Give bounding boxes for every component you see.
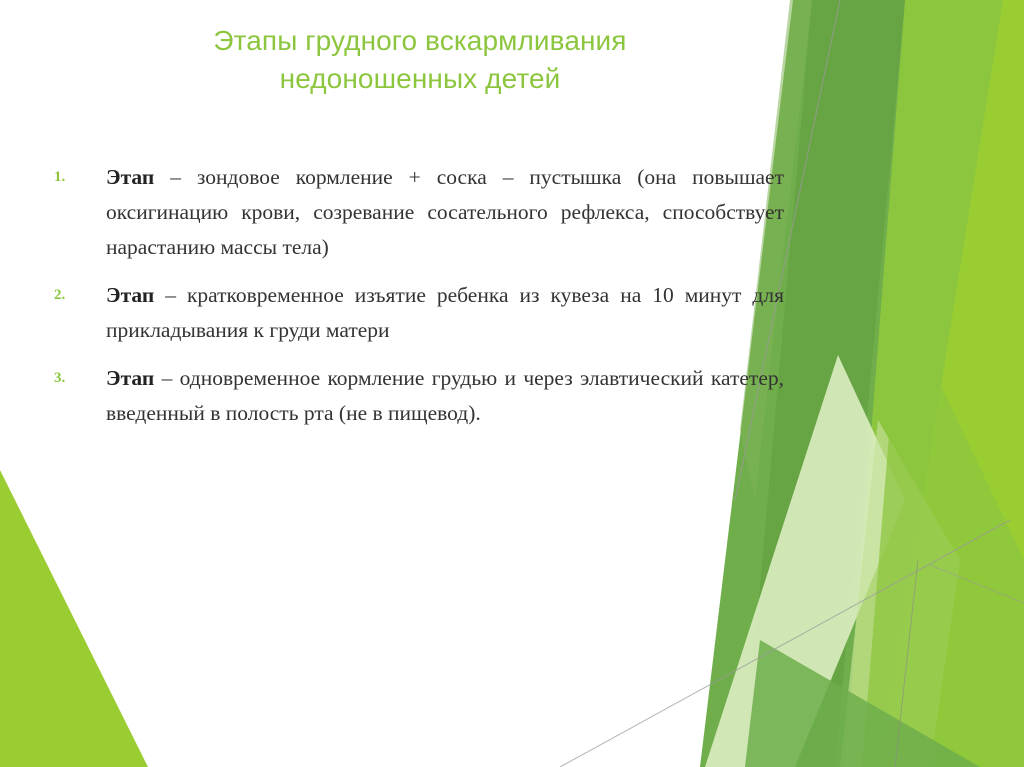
hairline-vertical-right: [895, 560, 918, 767]
list-item-tail-3: – одновременное кормление грудью и через…: [106, 366, 784, 425]
list-marker-3: 3.: [48, 361, 106, 396]
list-item-text-3: Этап – одновременное кормление грудью и …: [106, 361, 784, 431]
list-item-tail-1: – зондовое кормление + соска – пустышка …: [106, 165, 784, 259]
green-fan-bottom: [745, 640, 980, 767]
bullet-list: 1. Этап – зондовое кормление + соска – п…: [48, 160, 784, 431]
list-marker-2: 2.: [48, 278, 106, 313]
list-item-text-1: Этап – зондовое кормление + соска – пуст…: [106, 160, 784, 265]
bright-green-band: [760, 0, 1003, 767]
list-item-tail-2: – кратковременное изъятие ребенка из кув…: [106, 283, 784, 342]
page-title: Этапы грудного вскармливания недоношенны…: [150, 22, 690, 97]
pale-green-band-right: [745, 0, 1024, 767]
green-fan-lower-right: [862, 300, 1024, 767]
list-item-lead-3: Этап: [106, 366, 154, 390]
pale-fan-lower-mid: [840, 420, 960, 767]
list-item-lead-2: Этап: [106, 283, 154, 307]
lime-green-band: [852, 0, 1024, 767]
hairline-lower-diagonal: [560, 520, 1010, 767]
left-green-wedge: [0, 470, 148, 767]
slide-canvas: Этапы грудного вскармливания недоношенны…: [0, 0, 1024, 767]
list-item: 2. Этап – кратковременное изъятие ребенк…: [48, 278, 784, 348]
list-marker-1: 1.: [48, 160, 106, 195]
list-item-lead-1: Этап: [106, 165, 154, 189]
list-item: 3. Этап – одновременное кормление грудью…: [48, 361, 784, 431]
list-item-text-2: Этап – кратковременное изъятие ребенка и…: [106, 278, 784, 348]
list-item: 1. Этап – зондовое кормление + соска – п…: [48, 160, 784, 265]
hairline-short-top-right: [930, 565, 1024, 603]
